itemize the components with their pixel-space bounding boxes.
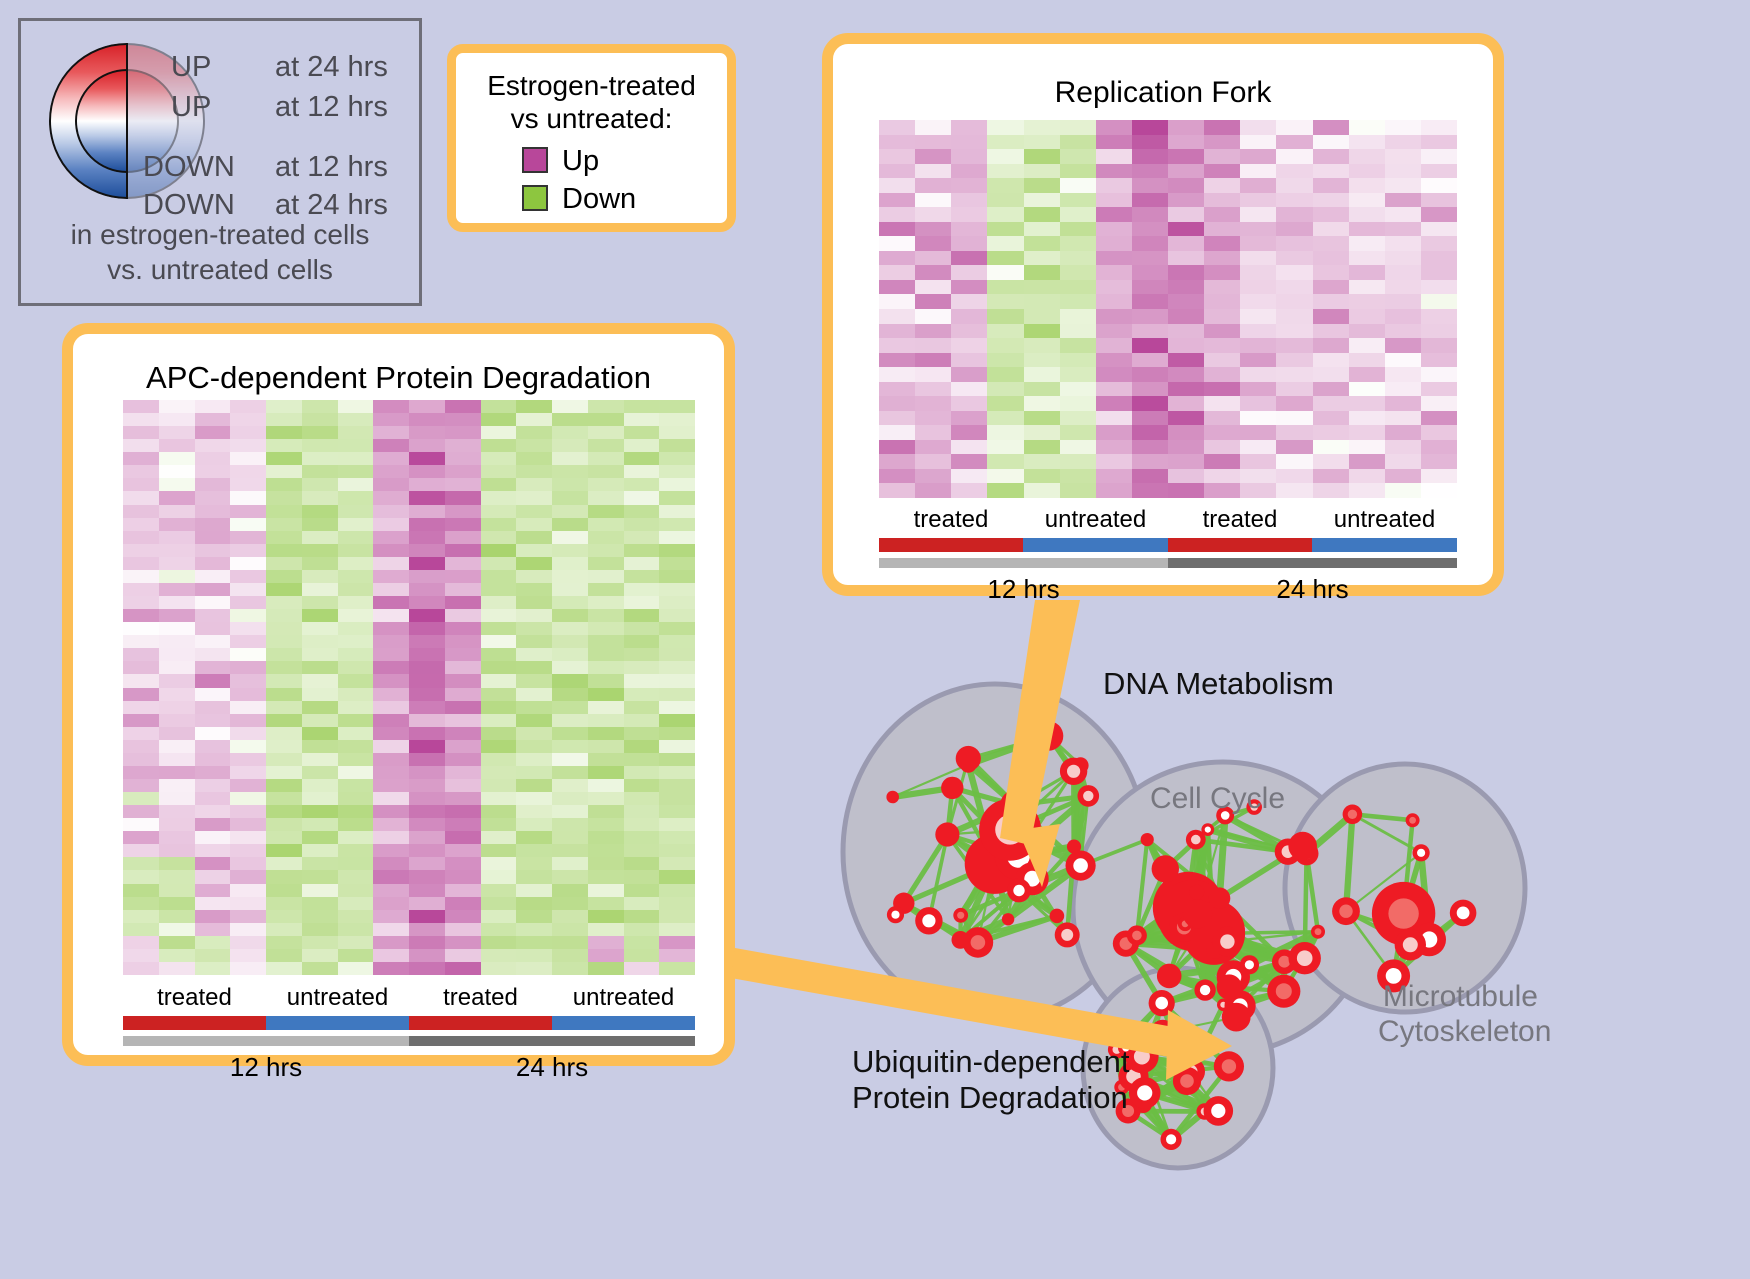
heatmap-cell	[123, 740, 159, 753]
heatmap-cell	[552, 805, 588, 818]
heatmap-cell	[1349, 294, 1385, 309]
heatmap-cell	[552, 661, 588, 674]
heatmap-cell	[230, 818, 266, 831]
heatmap-cell	[481, 518, 517, 531]
heatmap-cell	[1385, 469, 1421, 484]
heatmap-cell	[230, 962, 266, 975]
heatmap-cell	[659, 465, 695, 478]
heatmap-cell	[1240, 164, 1276, 179]
heatmap-cell	[624, 531, 660, 544]
heatmap-cell	[1349, 164, 1385, 179]
heatmap-cell	[1385, 440, 1421, 455]
heatmap-cell	[588, 557, 624, 570]
heatmap-cell	[516, 727, 552, 740]
heatmap-cell	[409, 962, 445, 975]
heatmap-cell	[987, 411, 1023, 426]
heatmap-cell	[159, 413, 195, 426]
heatmap-cell	[373, 805, 409, 818]
heatmap-cell	[516, 465, 552, 478]
heatmap-cell	[1204, 251, 1240, 266]
heatmap-cell	[159, 635, 195, 648]
heatmap-cell	[1096, 483, 1132, 498]
ring-divider	[126, 43, 128, 199]
heatmap-cell	[624, 936, 660, 949]
heatmap-cell	[1096, 338, 1132, 353]
heatmap-cell	[302, 596, 338, 609]
heatmap-cell	[1240, 207, 1276, 222]
heatmap-cell	[302, 897, 338, 910]
heatmap-cell	[1060, 309, 1096, 324]
heatmap-cell	[516, 609, 552, 622]
heatmap-cell	[302, 805, 338, 818]
network-node-core	[891, 911, 899, 919]
heatmap-cell	[624, 518, 660, 531]
network-node-core	[1315, 928, 1322, 935]
heatmap-cell	[338, 936, 374, 949]
heatmap-cell	[195, 635, 231, 648]
heatmap-cell	[1421, 207, 1457, 222]
heatmap-cell	[1024, 309, 1060, 324]
apc-group-label-1: untreated	[266, 984, 409, 1012]
heatmap-cell	[588, 426, 624, 439]
heatmap-cell	[1276, 469, 1312, 484]
heatmap-cell	[1168, 324, 1204, 339]
heatmap-cell	[1276, 236, 1312, 251]
heatmap-cell	[302, 936, 338, 949]
heatmap-cell	[123, 596, 159, 609]
heatmap-cell	[230, 583, 266, 596]
heatmap-cell	[516, 962, 552, 975]
heatmap-cell	[266, 753, 302, 766]
apc-group-label-3: untreated	[552, 984, 695, 1012]
heatmap-cell	[266, 792, 302, 805]
heatmap-cell	[266, 635, 302, 648]
heatmap-cell	[373, 609, 409, 622]
heatmap-cell	[1313, 396, 1349, 411]
heatmap-cell	[409, 714, 445, 727]
heatmap-cell	[409, 753, 445, 766]
apc-bar-time-24	[409, 1036, 695, 1046]
heatmap-cell	[1385, 294, 1421, 309]
heatmap-cell	[159, 805, 195, 818]
heatmap-cell	[266, 949, 302, 962]
heatmap-cell	[338, 805, 374, 818]
heatmap-cell	[1313, 425, 1349, 440]
heatmap-cell	[123, 609, 159, 622]
heatmap-cell	[123, 870, 159, 883]
heatmap-cell	[1421, 469, 1457, 484]
up-down-title-line2: vs untreated:	[456, 102, 727, 135]
network-node-core	[1061, 929, 1073, 941]
heatmap-cell	[588, 714, 624, 727]
heatmap-cell	[1204, 164, 1240, 179]
heatmap-cell	[373, 792, 409, 805]
network-node	[1002, 913, 1014, 925]
heatmap-cell	[409, 661, 445, 674]
heatmap-cell	[481, 753, 517, 766]
heatmap-cell	[1313, 280, 1349, 295]
heatmap-cell	[915, 338, 951, 353]
heatmap-cell	[1313, 149, 1349, 164]
heatmap-cell	[1421, 353, 1457, 368]
apc-group-label-0: treated	[123, 984, 266, 1012]
heatmap-cell	[588, 818, 624, 831]
heatmap-cell	[266, 910, 302, 923]
heatmap-cell	[1385, 382, 1421, 397]
heatmap-cell	[1421, 309, 1457, 324]
heatmap-cell	[1096, 251, 1132, 266]
heatmap-cell	[159, 923, 195, 936]
heatmap-cell	[915, 178, 951, 193]
heatmap-cell	[516, 570, 552, 583]
heatmap-cell	[1168, 164, 1204, 179]
network-node-core	[1403, 937, 1418, 952]
heatmap-cell	[552, 714, 588, 727]
heatmap-cell	[1276, 178, 1312, 193]
heatmap-cell	[445, 609, 481, 622]
heatmap-cell	[1349, 353, 1385, 368]
heatmap-cell	[1060, 382, 1096, 397]
heatmap-cell	[1385, 280, 1421, 295]
heatmap-cell	[266, 452, 302, 465]
heatmap-cell	[302, 622, 338, 635]
heatmap-cell	[1240, 382, 1276, 397]
heatmap-cell	[409, 805, 445, 818]
heatmap-cell	[302, 583, 338, 596]
heatmap-cell	[481, 544, 517, 557]
heatmap-cell	[1349, 454, 1385, 469]
heatmap-cell	[123, 648, 159, 661]
heatmap-cell	[659, 831, 695, 844]
heatmap-cell	[123, 452, 159, 465]
heatmap-cell	[552, 949, 588, 962]
heatmap-cell	[1024, 222, 1060, 237]
heatmap-cell	[195, 897, 231, 910]
heatmap-cell	[951, 294, 987, 309]
heatmap-cell	[659, 792, 695, 805]
heatmap-cell	[445, 831, 481, 844]
heatmap-cell	[123, 766, 159, 779]
heatmap-cell	[1060, 469, 1096, 484]
heatmap-cell	[951, 236, 987, 251]
heatmap-cell	[159, 897, 195, 910]
heatmap-cell	[266, 544, 302, 557]
heatmap-cell	[552, 818, 588, 831]
heatmap-cell	[1385, 396, 1421, 411]
heatmap-cell	[159, 531, 195, 544]
heatmap-cell	[1168, 280, 1204, 295]
heatmap-cell	[302, 609, 338, 622]
heatmap-cell	[266, 714, 302, 727]
heatmap-cell	[409, 910, 445, 923]
heatmap-cell	[409, 740, 445, 753]
heatmap-cell	[659, 753, 695, 766]
heatmap-cell	[1385, 193, 1421, 208]
heatmap-cell	[195, 923, 231, 936]
heatmap-cell	[230, 727, 266, 740]
heatmap-cell	[659, 596, 695, 609]
heatmap-cell	[552, 622, 588, 635]
network-node-core	[1157, 1026, 1169, 1038]
heatmap-cell	[1276, 164, 1312, 179]
replication-group-label-2: treated	[1168, 506, 1312, 534]
heatmap-cell	[987, 324, 1023, 339]
heatmap-cell	[588, 910, 624, 923]
swatch-down-icon	[522, 185, 548, 211]
heatmap-cell	[951, 483, 987, 498]
heatmap-cell	[659, 518, 695, 531]
heatmap-cell	[951, 382, 987, 397]
heatmap-cell	[951, 440, 987, 455]
label-cell-cycle: Cell Cycle	[1150, 782, 1285, 817]
heatmap-cell	[373, 505, 409, 518]
heatmap-cell	[302, 557, 338, 570]
heatmap-cell	[879, 251, 915, 266]
heatmap-cell	[1240, 294, 1276, 309]
heatmap-cell	[915, 396, 951, 411]
network-node-core	[1211, 1104, 1225, 1118]
heatmap-cell	[624, 570, 660, 583]
heatmap-cell	[445, 583, 481, 596]
heatmap-cell	[659, 949, 695, 962]
heatmap-cell	[879, 353, 915, 368]
heatmap-cell	[1024, 280, 1060, 295]
network-node-core	[1220, 934, 1234, 948]
heatmap-cell	[1060, 164, 1096, 179]
heatmap-cell	[588, 570, 624, 583]
heatmap-cell	[195, 661, 231, 674]
heatmap-cell	[1096, 469, 1132, 484]
heatmap-cell	[302, 701, 338, 714]
heatmap-cell	[302, 531, 338, 544]
heatmap-cell	[659, 478, 695, 491]
heatmap-cell	[1024, 294, 1060, 309]
heatmap-cell	[552, 962, 588, 975]
heatmap-cell	[481, 622, 517, 635]
heatmap-cell	[373, 400, 409, 413]
heatmap-cell	[1240, 440, 1276, 455]
heatmap-cell	[266, 439, 302, 452]
network-node-core	[1132, 931, 1142, 941]
heatmap-cell	[159, 962, 195, 975]
heatmap-cell	[516, 818, 552, 831]
heatmap-cell	[987, 454, 1023, 469]
heatmap-cell	[195, 674, 231, 687]
heatmap-cell	[481, 714, 517, 727]
network-node	[1183, 899, 1212, 928]
heatmap-cell	[879, 440, 915, 455]
heatmap-cell	[338, 897, 374, 910]
heatmap-cell	[409, 766, 445, 779]
heatmap-cell	[159, 426, 195, 439]
heatmap-cell	[266, 622, 302, 635]
heatmap-cell	[302, 661, 338, 674]
heatmap-cell	[624, 831, 660, 844]
heatmap-cell	[195, 740, 231, 753]
heatmap-cell	[230, 831, 266, 844]
heatmap-cell	[1204, 469, 1240, 484]
heatmap-cell	[1276, 396, 1312, 411]
heatmap-cell	[1060, 251, 1096, 266]
heatmap-cell	[588, 857, 624, 870]
legend-label-up: Up	[562, 145, 599, 177]
heatmap-cell	[624, 622, 660, 635]
heatmap-cell	[1421, 483, 1457, 498]
heatmap-cell	[123, 557, 159, 570]
heatmap-cell	[373, 465, 409, 478]
heatmap-cell	[879, 396, 915, 411]
heatmap-cell	[266, 674, 302, 687]
heatmap-cell	[987, 353, 1023, 368]
heatmap-cell	[1024, 236, 1060, 251]
heatmap-cell	[1060, 265, 1096, 280]
heatmap-cell	[588, 661, 624, 674]
heatmap-cell	[481, 870, 517, 883]
heatmap-cell	[230, 439, 266, 452]
heatmap-cell	[445, 792, 481, 805]
heatmap-cell	[1240, 135, 1276, 150]
replication-group-label-0: treated	[879, 506, 1023, 534]
heatmap-cell	[195, 949, 231, 962]
heatmap-cell	[230, 844, 266, 857]
heatmap-cell	[266, 962, 302, 975]
heatmap-cell	[445, 465, 481, 478]
heatmap-cell	[951, 324, 987, 339]
heatmap-cell	[481, 609, 517, 622]
heatmap-cell	[516, 831, 552, 844]
heatmap-cell	[1132, 280, 1168, 295]
heatmap-cell	[552, 923, 588, 936]
heatmap-cell	[552, 439, 588, 452]
heatmap-cell	[624, 870, 660, 883]
heatmap-cell	[1204, 265, 1240, 280]
heatmap-cell	[879, 338, 915, 353]
heatmap-cell	[302, 426, 338, 439]
heatmap-cell	[1096, 294, 1132, 309]
network-node	[1209, 887, 1231, 909]
heatmap-cell	[481, 583, 517, 596]
heatmap-cell	[159, 661, 195, 674]
colour-scale-legend: UP at 24 hrs UP at 12 hrs DOWN at 12 hrs…	[18, 18, 422, 306]
network-node-core	[1200, 985, 1210, 995]
heatmap-cell	[373, 544, 409, 557]
heatmap-cell	[1276, 382, 1312, 397]
heatmap-cell	[1060, 294, 1096, 309]
heatmap-cell	[516, 714, 552, 727]
heatmap-cell	[1168, 178, 1204, 193]
heatmap-cell	[1024, 324, 1060, 339]
heatmap-cell	[445, 897, 481, 910]
heatmap-cell	[624, 491, 660, 504]
heatmap-cell	[302, 740, 338, 753]
heatmap-cell	[1204, 135, 1240, 150]
heatmap-cell	[302, 779, 338, 792]
heatmap-cell	[552, 570, 588, 583]
heatmap-cell	[1024, 367, 1060, 382]
heatmap-cell	[1096, 207, 1132, 222]
heatmap-cell	[338, 518, 374, 531]
heatmap-cell	[516, 870, 552, 883]
heatmap-cell	[1349, 469, 1385, 484]
heatmap-cell	[123, 805, 159, 818]
scale-value-0: at 24 hrs	[275, 51, 388, 84]
heatmap-cell	[230, 884, 266, 897]
heatmap-cell	[1132, 411, 1168, 426]
heatmap-cell	[409, 635, 445, 648]
heatmap-cell	[1313, 294, 1349, 309]
heatmap-cell	[338, 439, 374, 452]
heatmap-cell	[195, 688, 231, 701]
heatmap-cell	[1168, 120, 1204, 135]
heatmap-cell	[1276, 294, 1312, 309]
network-node-core	[1222, 1059, 1236, 1073]
replication-time-label-24: 24 hrs	[1168, 574, 1457, 605]
heatmap-cell	[915, 164, 951, 179]
heatmap-cell	[1204, 396, 1240, 411]
heatmap-cell	[624, 897, 660, 910]
heatmap-cell	[1313, 207, 1349, 222]
heatmap-cell	[159, 818, 195, 831]
heatmap-cell	[1313, 164, 1349, 179]
heatmap-cell	[481, 897, 517, 910]
heatmap-cell	[1096, 236, 1132, 251]
heatmap-cell	[1276, 149, 1312, 164]
heatmap-cell	[879, 367, 915, 382]
heatmap-cell	[624, 465, 660, 478]
heatmap-cell	[588, 635, 624, 648]
heatmap-cell	[1024, 135, 1060, 150]
heatmap-cell	[1385, 164, 1421, 179]
replication-fork-heatmap	[879, 120, 1457, 498]
heatmap-cell	[879, 265, 915, 280]
heatmap-cell	[516, 949, 552, 962]
network-node	[1189, 885, 1204, 900]
heatmap-cell	[516, 857, 552, 870]
heatmap-cell	[1204, 353, 1240, 368]
heatmap-cell	[552, 831, 588, 844]
heatmap-cell	[1204, 178, 1240, 193]
heatmap-cell	[879, 324, 915, 339]
heatmap-cell	[266, 857, 302, 870]
heatmap-cell	[659, 452, 695, 465]
heatmap-cell	[1096, 265, 1132, 280]
apc-group-label-2: treated	[409, 984, 552, 1012]
heatmap-cell	[1204, 367, 1240, 382]
heatmap-cell	[445, 857, 481, 870]
heatmap-cell	[951, 411, 987, 426]
heatmap-cell	[123, 910, 159, 923]
heatmap-cell	[659, 805, 695, 818]
heatmap-cell	[624, 779, 660, 792]
heatmap-cell	[1385, 120, 1421, 135]
heatmap-cell	[624, 688, 660, 701]
heatmap-cell	[302, 753, 338, 766]
heatmap-cell	[373, 452, 409, 465]
heatmap-cell	[409, 583, 445, 596]
heatmap-cell	[1168, 396, 1204, 411]
heatmap-cell	[1385, 236, 1421, 251]
heatmap-cell	[1421, 164, 1457, 179]
heatmap-cell	[951, 149, 987, 164]
heatmap-cell	[373, 674, 409, 687]
heatmap-cell	[373, 531, 409, 544]
heatmap-cell	[123, 622, 159, 635]
heatmap-cell	[1024, 454, 1060, 469]
heatmap-cell	[1240, 338, 1276, 353]
heatmap-cell	[159, 439, 195, 452]
heatmap-cell	[1060, 324, 1096, 339]
heatmap-cell	[1060, 280, 1096, 295]
